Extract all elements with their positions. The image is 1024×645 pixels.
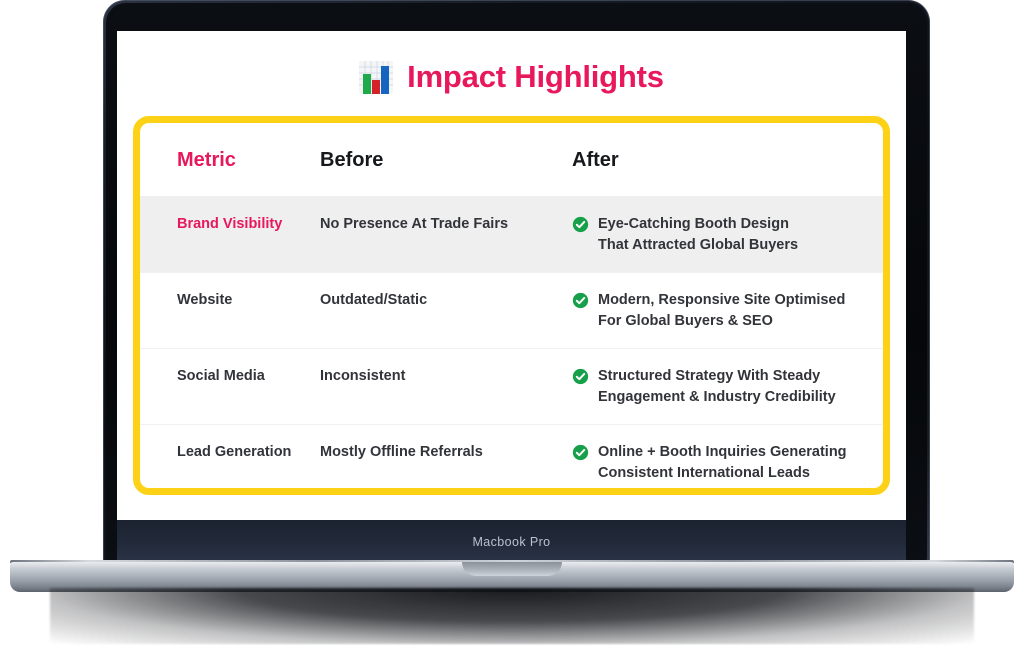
table-row: Brand Visibility No Presence At Trade Fa… bbox=[140, 197, 883, 273]
table-row: Lead Generation Mostly Offline Referrals… bbox=[140, 425, 883, 495]
impact-highlights-table-card: Metric Before After Brand Visibility No … bbox=[133, 116, 890, 495]
row-after-line-2: Consistent International Leads bbox=[598, 463, 847, 484]
check-circle-icon bbox=[572, 292, 589, 309]
row-before-value: Inconsistent bbox=[320, 368, 405, 384]
column-header-after: After bbox=[572, 149, 883, 172]
page-header: Impact Highlights bbox=[117, 31, 906, 109]
table-row: Social Media Inconsistent Structured Str… bbox=[140, 349, 883, 425]
stage: Impact Highlights Metric Before After Br… bbox=[0, 0, 1024, 645]
table-inner: Metric Before After Brand Visibility No … bbox=[140, 123, 883, 495]
row-after-line-2: Engagement & Industry Credibility bbox=[598, 387, 836, 408]
row-before-value: No Presence At Trade Fairs bbox=[320, 216, 508, 232]
row-after-line-2: For Global Buyers & SEO bbox=[598, 311, 845, 332]
check-circle-icon bbox=[572, 368, 589, 385]
row-metric-label: Lead Generation bbox=[177, 444, 291, 460]
table-header-row: Metric Before After bbox=[140, 123, 883, 197]
page-title: Impact Highlights bbox=[407, 59, 664, 95]
laptop-screen: Impact Highlights Metric Before After Br… bbox=[117, 31, 906, 520]
column-header-metric: Metric bbox=[140, 149, 320, 172]
device-model-label: Macbook Pro bbox=[472, 535, 550, 549]
laptop-chin: Macbook Pro bbox=[117, 520, 906, 563]
bar-chart-icon bbox=[359, 60, 393, 95]
table-row: Website Outdated/Static Modern, Responsi… bbox=[140, 273, 883, 349]
check-circle-icon bbox=[572, 444, 589, 461]
row-metric-label: Brand Visibility bbox=[177, 216, 282, 232]
row-after-line-1: Online + Booth Inquiries Generating bbox=[598, 442, 847, 463]
laptop-device: Impact Highlights Metric Before After Br… bbox=[0, 0, 1024, 645]
row-before-value: Outdated/Static bbox=[320, 292, 427, 308]
column-header-before: Before bbox=[320, 149, 572, 172]
row-after-line-1: Modern, Responsive Site Optimised bbox=[598, 290, 845, 311]
row-after-value: Modern, Responsive Site Optimised For Gl… bbox=[598, 290, 845, 331]
check-circle-icon bbox=[572, 216, 589, 233]
row-metric-label: Website bbox=[177, 292, 232, 308]
row-after-value: Eye-Catching Booth Design That Attracted… bbox=[598, 214, 798, 255]
laptop-base-notch bbox=[462, 562, 562, 576]
row-before-value: Mostly Offline Referrals bbox=[320, 444, 483, 460]
row-after-value: Structured Strategy With Steady Engageme… bbox=[598, 366, 836, 407]
row-after-line-2: That Attracted Global Buyers bbox=[598, 235, 798, 256]
row-after-line-1: Eye-Catching Booth Design bbox=[598, 214, 798, 235]
row-after-value: Online + Booth Inquiries Generating Cons… bbox=[598, 442, 847, 483]
row-metric-label: Social Media bbox=[177, 368, 265, 384]
laptop-drop-shadow bbox=[50, 588, 974, 644]
row-after-line-1: Structured Strategy With Steady bbox=[598, 366, 836, 387]
